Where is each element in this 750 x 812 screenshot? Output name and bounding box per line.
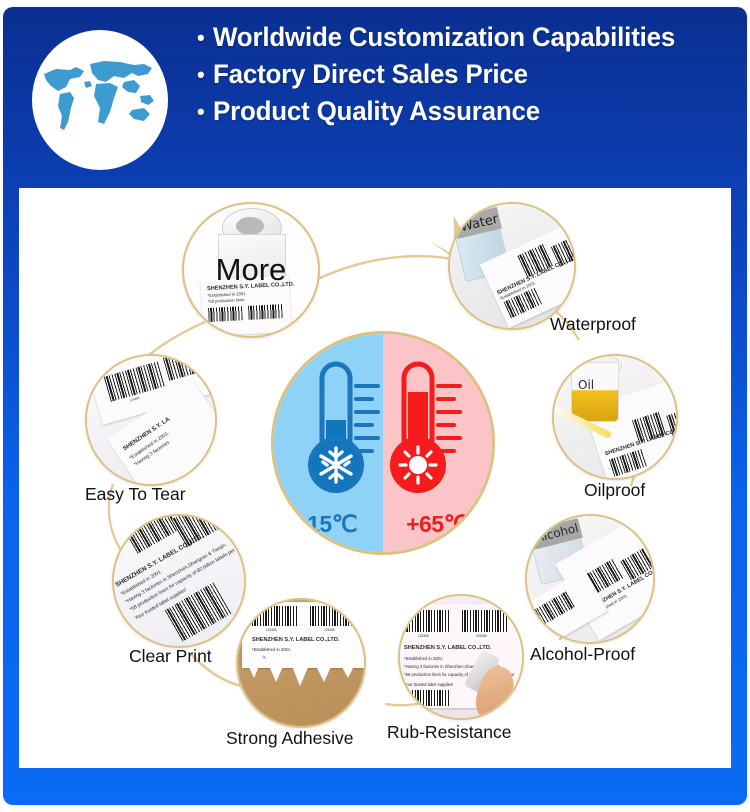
torn-edge (242, 652, 364, 686)
hot-temperature-label: +65℃ (383, 511, 492, 538)
header-bullet-3-text: Product Quality Assurance (213, 96, 540, 128)
bullet-dot-icon: • (197, 27, 205, 49)
more-overlay-text: More (184, 204, 318, 336)
caption-oilproof: Oilproof (584, 480, 645, 501)
alcohol-bottle-photo: Alcohol SHENZHEN S.Y. LABEL CO.,L *Estab… (527, 516, 653, 642)
feature-bubble-clear-print[interactable]: SHENZHEN S.Y. LABEL CO.,LTD. *Establishe… (112, 514, 246, 648)
feature-bubble-strong-adhesive[interactable]: 123456 123456 SHENZHEN S.Y. LABEL CO.,LT… (236, 598, 366, 728)
rub-test-photo: 123456 123456 SHENZHEN S.Y. LABEL CO.,LT… (400, 596, 522, 718)
cold-temperature-label: -15℃ (274, 511, 383, 538)
caption-easy-to-tear: Easy To Tear (85, 484, 186, 505)
water-bottle-photo: Water SHENZHEN S.Y. LABEL CO.,LTD *Estab… (450, 204, 574, 328)
header-bullet-3: • Product Quality Assurance (197, 96, 750, 128)
bullet-dot-icon: • (197, 101, 205, 123)
header-bullet-1-text: Worldwide Customization Capabilities (213, 22, 675, 54)
header-bullet-2-text: Factory Direct Sales Price (213, 59, 528, 91)
bullet-dot-icon: • (197, 64, 205, 86)
feature-cycle-diagram: -15℃ +65℃ SHENZHEN S.Y. LABEL CO.,LTD. *… (19, 188, 731, 768)
caption-waterproof: Waterproof (550, 314, 636, 335)
thermometer-cold-icon (292, 352, 384, 512)
feature-bubble-alcohol[interactable]: Alcohol SHENZHEN S.Y. LABEL CO.,L *Estab… (525, 514, 655, 644)
feature-bubble-oilproof[interactable]: SHENZHEN S.Y. LABEL CO.,L Oil (552, 354, 678, 480)
oil-cup-photo: SHENZHEN S.Y. LABEL CO.,L Oil (554, 356, 676, 478)
header-banner: • Worldwide Customization Capabilities •… (19, 18, 731, 178)
caption-rub-resistance: Rub-Resistance (387, 722, 512, 743)
world-map-icon (32, 30, 168, 170)
sun-icon (400, 447, 436, 483)
kraft-tear-photo: 123456 123456 SHENZHEN S.Y. LABEL CO.,LT… (238, 600, 364, 726)
oil-handwritten-text: Oil (578, 378, 594, 392)
caption-alcohol-proof: Alcohol-Proof (530, 644, 635, 665)
feature-bubble-waterproof[interactable]: Water SHENZHEN S.Y. LABEL CO.,LTD *Estab… (448, 202, 576, 330)
header-bullet-1: • Worldwide Customization Capabilities (197, 22, 750, 54)
header-bullet-2: • Factory Direct Sales Price (197, 59, 750, 91)
feature-bubble-rub-resistance[interactable]: 123456 123456 SHENZHEN S.Y. LABEL CO.,LT… (398, 594, 524, 720)
caption-clear-print: Clear Print (129, 646, 212, 667)
caption-strong-adhesive: Strong Adhesive (226, 728, 353, 749)
feature-bubble-more[interactable]: SHENZHEN S.Y. LABEL CO.,LTD. *Establishe… (182, 202, 320, 338)
temperature-range-circle: -15℃ +65℃ (271, 331, 495, 555)
feature-bubble-easy-to-tear[interactable]: 123456 SHENZHEN S.Y. LA *Established in … (85, 354, 217, 486)
thermometer-hot-icon (382, 352, 474, 512)
header-bullet-list: • Worldwide Customization Capabilities •… (197, 22, 750, 133)
product-feature-infographic: • Worldwide Customization Capabilities •… (0, 0, 750, 812)
clear-print-photo: SHENZHEN S.Y. LABEL CO.,LTD. *Establishe… (114, 516, 244, 646)
stacked-labels-photo: 123456 SHENZHEN S.Y. LA *Established in … (87, 356, 215, 484)
